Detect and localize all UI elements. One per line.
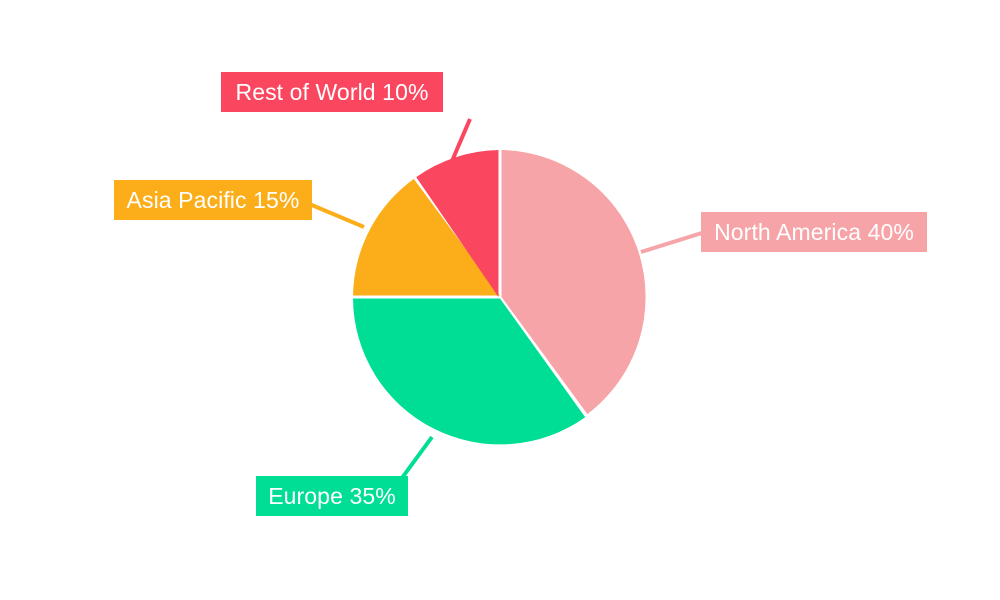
data-label-europe[interactable]: Europe 35% — [256, 476, 408, 516]
data-label-asia-pacific[interactable]: Asia Pacific 15% — [114, 180, 312, 220]
data-label-north-america[interactable]: North America 40% — [701, 212, 927, 252]
pie-chart-canvas: North America 40% Europe 35% Asia Pacifi… — [0, 0, 1000, 600]
pie-chart-svg — [0, 0, 1000, 600]
pie-slices — [353, 150, 646, 444]
data-label-rest-of-world[interactable]: Rest of World 10% — [221, 72, 443, 112]
leader-line-north-america — [641, 232, 705, 252]
leader-line-asia-pacific — [307, 203, 364, 227]
